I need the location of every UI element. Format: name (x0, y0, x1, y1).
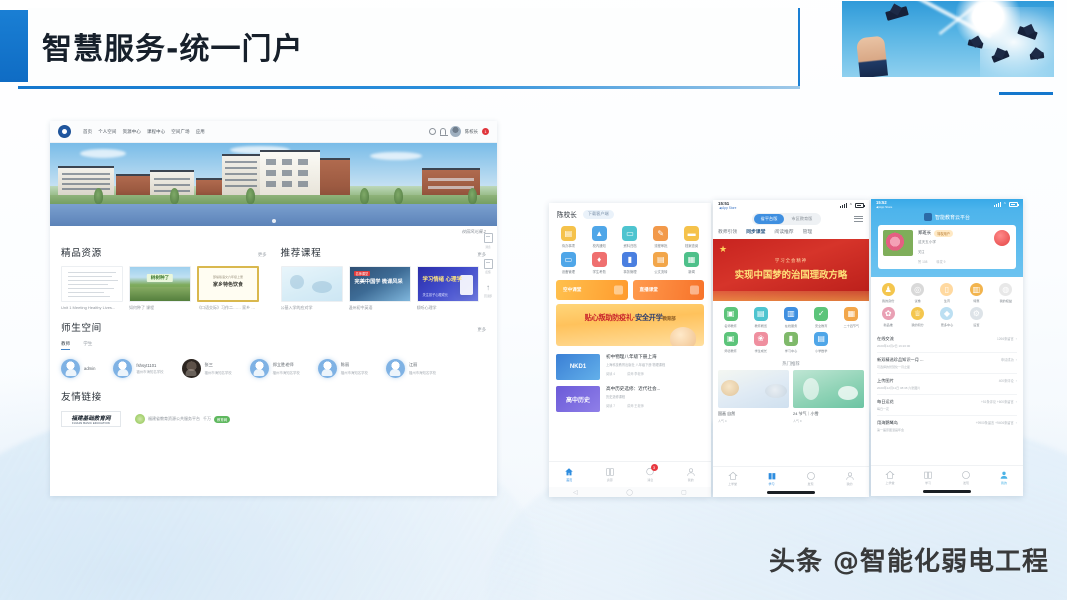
wifi-icon: ⌃ (1003, 202, 1007, 208)
banner-prefix: 贴心 (585, 313, 599, 322)
rail-label: 反馈 (485, 270, 490, 274)
nav-item-personal[interactable]: 个人空间 (98, 129, 116, 135)
epidemic-safety-banner[interactable]: 贴心叛助防疫礼·安全开学教育部 (556, 304, 704, 346)
app-label: 我的积分 (911, 322, 923, 327)
list-item[interactable]: 上传图片 2020年12月11日 08:38 六张图片 400条评论 › (877, 374, 1017, 395)
card-title: 国画 自然 (718, 411, 789, 417)
user-icon (686, 467, 696, 477)
notification-badge[interactable]: 1 (482, 128, 489, 135)
person-name: 郑立胜老师 (273, 362, 300, 368)
list-item-title: 用海鹦鸶岛 (877, 420, 972, 426)
nav-tab-profile[interactable]: 我的 (671, 462, 712, 487)
app-tile[interactable]: ▦新闻 (677, 252, 706, 274)
portal-nav-links: 首页 个人空间 资源中心 课程中心 空间广场 应用 (83, 129, 205, 135)
person-org: 福州市海知名学校 (136, 369, 163, 374)
chevron-right-icon: › (1016, 357, 1017, 362)
person-item[interactable]: 陈丽 福州市海知名学校 (318, 359, 368, 378)
ios-status-bar: 15:51 ◀ App Store ⌃ (713, 200, 869, 211)
friend-link-text: 福建省教育资源公共服务平台 (148, 416, 200, 422)
more-link[interactable]: 更多 (477, 327, 486, 333)
app-label: 设置 (973, 322, 979, 327)
star-icon: ★ (719, 244, 727, 255)
live-class-icon (690, 286, 699, 295)
course-card[interactable]: 名师课堂 完美中国学 微课风采 温州初中英语 (349, 266, 411, 311)
list-item-subtitle: 每日一花 (877, 407, 977, 411)
app-label: 新闻 (688, 269, 695, 274)
phone-screenshot-2: 15:51 ◀ App Store ⌃ 省平台版 市区教育版 教师引领 同步课堂… (713, 200, 869, 497)
person-item[interactable]: 江丽 福州市海知名学校 (386, 359, 436, 378)
rail-item-message[interactable]: 消息 (481, 233, 495, 249)
battery-icon (1009, 202, 1018, 207)
slide-header: 智慧服务-统一门户 (0, 0, 1067, 100)
battery-icon (855, 203, 864, 208)
list-item[interactable]: 新双精选珍品知识一月 ... 可选择的智慧化一月之星 申请成功 › (877, 353, 1017, 374)
app-tile[interactable]: ✓安全教育 (807, 307, 836, 328)
nav-label: 消息 (647, 478, 653, 482)
china-dream-banner[interactable]: ★ 学习全会精神 实现中国梦的治国理政方略 (713, 239, 869, 301)
tab-students[interactable]: 学生 (83, 341, 92, 350)
nav-tab-study[interactable]: 学习 (752, 467, 791, 490)
app-label: 二十四节气 (844, 323, 859, 328)
child-illustration (670, 327, 696, 346)
app-tile[interactable]: ▦二十四节气 (837, 307, 866, 328)
calendar-icon: ▦ (844, 307, 858, 321)
resource-card[interactable]: Unit 1 Meeting Healthy Lives... (61, 266, 123, 311)
portal-side-rail: 消息 反馈 ↑ 回顶部 (481, 233, 495, 308)
graduation-cap-icon (885, 6, 909, 21)
app-tile[interactable]: ▮事务管理 (616, 252, 645, 274)
card-title: 24 节气｜小雪 (793, 411, 864, 417)
friend-link-badge: 教育网 (214, 416, 230, 423)
nav-tab-resource[interactable]: 资源 (590, 462, 631, 487)
app-label: 新品推 (884, 322, 893, 327)
message-badge: 3 (651, 464, 658, 471)
list-item[interactable]: NKD1 初中物理八年级下册上海 上海科技教育出版社 八年级下册 物理课程 阅读… (556, 351, 704, 383)
tab-reading[interactable]: 阅读推荐 (774, 228, 793, 235)
news-icon: ▦ (684, 252, 699, 267)
nav-tab-discover[interactable]: 发现 (791, 467, 830, 490)
fujian-education-logo[interactable]: 福建基础教育网 FUJIAN BASIC EDUCATION (61, 411, 121, 427)
nav-tab-home[interactable]: 首页 (549, 462, 590, 487)
avatar (318, 359, 337, 378)
section-title: 友情链接 (61, 389, 102, 403)
app-label: 小学数学 (815, 348, 827, 353)
phone1-course-list: NKD1 初中物理八年级下册上海 上海科技教育出版社 八年级下册 物理课程 阅读… (549, 346, 711, 415)
growth-icon: ❀ (754, 332, 768, 346)
app-tile[interactable]: ▮学习中心 (776, 332, 805, 353)
list-item-subtitle: 上海科技教育出版社 八年级下册 物理课程 (606, 362, 704, 367)
list-item-subtitle: 2020年12月11日 08:38 六张图片 (877, 386, 995, 390)
header-rule (999, 92, 1053, 95)
list-item[interactable]: 用海鹦鸶岛 第一届原图漫画年会 +9900条留言 +9406条留言 › (877, 416, 1017, 436)
nav-item-home[interactable]: 首页 (83, 129, 92, 135)
app-tile[interactable]: ♟我的身份 (874, 283, 902, 303)
app-tile[interactable]: ✎流程审批 (646, 226, 675, 248)
card-illustration (718, 370, 789, 408)
portal-navbar: 首页 个人空间 资源中心 课程中心 空间广场 应用 陈校长 1 (50, 121, 497, 143)
app-tile[interactable]: ▭资料归档 (616, 226, 645, 248)
rights-icon: ◍ (999, 283, 1012, 296)
nav-label: 首页 (566, 478, 572, 482)
list-item-value: +9900条留言 +9406条留言 (976, 420, 1014, 425)
app-tile[interactable]: ▯生育 (933, 283, 961, 303)
thumbnail-tag: 名师课堂 (354, 271, 371, 276)
book-icon (767, 471, 777, 481)
app-tile[interactable]: ▣名师教育 (716, 307, 745, 328)
thumbnail-text: 完美中国学 微课风采 (355, 279, 403, 286)
monitor-icon: ▭ (561, 252, 576, 267)
graduation-caps-photo (842, 1, 1054, 77)
avatar (250, 359, 269, 378)
list-item-title: 高中历史选修：近代社会... (606, 386, 704, 392)
briefcase-icon: ▤ (561, 226, 576, 241)
nav-label: 资源 (607, 478, 613, 482)
nav-tab-discover[interactable]: 发现 (947, 466, 985, 489)
list-item-value: 400条评论 (999, 378, 1014, 383)
app-label: 设备管理 (562, 269, 575, 274)
app-tile[interactable]: ◆更多中心 (933, 307, 961, 327)
thumbnail-subtext: 部编版语文六年级上册 (213, 275, 243, 279)
nav-label: 发现 (807, 482, 813, 486)
home-circle-icon[interactable]: ◯ (626, 489, 633, 496)
app-label: 待办事项 (562, 243, 575, 248)
app-tile[interactable]: ❀学生成长 (746, 332, 775, 353)
list-item-title: 新双精选珍品知识一月 ... (877, 357, 997, 363)
app-tile[interactable]: ⚙设置 (962, 307, 990, 327)
hero-caption: 校园风光展 2 (50, 226, 497, 237)
banner-suffix: 教育部 (663, 316, 676, 321)
chevron-right-icon: › (1016, 378, 1017, 383)
resource-thumbnail (61, 266, 123, 302)
resource-card[interactable]: 部编版语文六年级上册 家乡特色饮食 《口语交际》习作二…… 家乡 特色… (197, 266, 259, 311)
resource-thumbnail: 部编版语文六年级上册 家乡特色饮食 (197, 266, 259, 302)
nav-tab-study[interactable]: 学习 (909, 466, 947, 489)
back-icon[interactable]: ◁ (573, 489, 578, 496)
post-stat: 赞 108 (918, 259, 927, 264)
course-card[interactable]: 公基入学的应对学 (281, 266, 343, 311)
home-icon (728, 471, 738, 481)
book-icon (923, 470, 933, 480)
app-label: 名师教育 (724, 323, 736, 328)
card-subtitle: 人气 4 (718, 419, 789, 423)
phone1-app-grid: ▤待办事项 ▲校内通知 ▭资料归档 ✎流程审批 ▬档案查阅 ▭设备管理 ♦学生考… (549, 221, 711, 278)
new-icon: ✿ (882, 307, 895, 320)
search-icon[interactable] (429, 128, 436, 135)
discount-icon: ▥ (970, 283, 983, 296)
user-icon (999, 470, 1009, 480)
gear-icon: ⚙ (970, 307, 983, 320)
recommend-card[interactable]: 国画 自然 人气 4 (718, 370, 789, 423)
leaf-icon (135, 414, 145, 424)
ios-home-indicator (923, 490, 971, 493)
list-item[interactable]: 在线交流 2020年12月2日 19:20:00 1266条留言 › (877, 332, 1017, 353)
app-tile[interactable]: ▤待办事项 (554, 226, 583, 248)
list-item-subtitle: 历史选修课程 (606, 394, 704, 399)
archive-icon: ▭ (622, 226, 637, 241)
app-label: 更多中心 (941, 322, 953, 327)
chevron-right-icon: › (1016, 420, 1017, 425)
chart-icon: ▥ (784, 307, 798, 321)
id-icon: ♟ (882, 283, 895, 296)
header-accent-block (0, 10, 28, 82)
back-to-appstore-link[interactable]: ◀ App Store (876, 205, 892, 209)
approval-icon: ✎ (653, 226, 668, 241)
list-item-title: 在线交流 (877, 336, 993, 342)
points-icon: ♕ (911, 307, 924, 320)
tab-teachers[interactable]: 教师 (61, 341, 70, 350)
app-logo-icon (924, 213, 932, 221)
phone2-recommend-cards: 国画 自然 人气 4 24 节气｜小雪 人气 9 (713, 370, 869, 423)
nav-tab-profile[interactable]: 我的 (985, 466, 1023, 489)
app-label: 试卷 (915, 298, 921, 303)
nav-label: 上学堂 (885, 481, 894, 485)
download-client-chip[interactable]: 下载客户端 (583, 210, 614, 219)
app-label: 公文流转 (654, 269, 667, 274)
person-item[interactable]: 郑立胜老师 福州市海知名学校 (250, 359, 300, 378)
person-org: 福州市海知名学校 (205, 370, 232, 375)
phone-screenshot-1: 陈校长 下载客户端 ▤待办事项 ▲校内通知 ▭资料归档 ✎流程审批 ▬档案查阅 … (549, 203, 711, 497)
person-item[interactable]: 张三 福州市海知名学校 (182, 359, 232, 378)
app-label: 生育 (944, 298, 950, 303)
more-icon: ◆ (940, 307, 953, 320)
list-item-stat: 阅读 7 (606, 403, 615, 408)
stats-icon: ▤ (754, 307, 768, 321)
list-item-stat: 讲师 李老师 (627, 371, 644, 376)
resource-thumbnail: 树树种了 (129, 266, 191, 302)
app-label: 教育概览 (755, 323, 767, 328)
section-title: 推荐课程 (281, 245, 322, 259)
list-item-value: 1266条留言 (997, 336, 1014, 341)
course-card-label: 温州初中英语 (349, 305, 411, 311)
app-label: 安全教育 (815, 323, 827, 328)
app-label: 在线服务 (785, 323, 797, 328)
wifi-icon: ⌃ (849, 203, 853, 209)
app-tile[interactable]: ♦学生考勤 (585, 252, 614, 274)
raised-hand (856, 36, 888, 77)
cloud-classroom-button[interactable]: 空中课堂 (556, 280, 628, 300)
nav-item-resource[interactable]: 资源中心 (123, 129, 141, 135)
app-tile[interactable]: ▬档案查阅 (677, 226, 706, 248)
person-name: 江丽 (409, 362, 436, 368)
nav-item-apps[interactable]: 应用 (196, 129, 205, 135)
platform-segmented-control[interactable]: 省平台版 市区教育版 (752, 213, 821, 225)
nav-item-plaza[interactable]: 空间广场 (171, 129, 189, 135)
app-tile[interactable]: ▤小学数学 (807, 332, 836, 353)
envelope-button[interactable] (994, 230, 1010, 246)
nav-tab-profile[interactable]: 我的 (830, 467, 869, 490)
phone2-tab-bar: 教师引领 同步课堂 阅读推荐 管理 (713, 228, 869, 239)
post-tag[interactable]: 关注 (918, 249, 1011, 254)
book-icon: ▮ (784, 332, 798, 346)
baby-icon: ▯ (940, 283, 953, 296)
app-tile[interactable]: ▤公文流转 (646, 252, 675, 274)
phone1-user-name: 陈校长 (557, 209, 577, 219)
friend-link-item[interactable]: 福建省教育资源公共服务平台 千万 教育网 (135, 414, 230, 424)
course-thumbnail: 学习情绪 心理学 关注孩子心理成长 (417, 266, 479, 302)
tab-manage[interactable]: 管理 (803, 228, 813, 235)
app-label: 资料归档 (623, 243, 636, 248)
person-item[interactable]: admin (61, 359, 95, 378)
thumbnail-text: 学习情绪 心理学 (423, 277, 462, 284)
nav-label: 我的 (1001, 481, 1007, 485)
nav-tab-message[interactable]: 3 消息 (630, 462, 671, 487)
message-icon (484, 233, 493, 243)
list-item-stat: 阅读 4 (606, 371, 615, 376)
chevron-right-icon: › (1016, 399, 1017, 404)
course-thumbnail: 高中历史 (556, 386, 600, 412)
phone1-action-buttons: 空中课堂 直播课堂 (549, 278, 711, 304)
resource-card-label: Unit 1 Meeting Healthy Lives... (61, 305, 123, 310)
phone3-header: 智能教育云平台 郑班长 特权用户 这天五小学 关注 赞 108 转发 9 (871, 210, 1023, 277)
compass-icon (961, 470, 971, 480)
list-item[interactable]: 高中历史 高中历史选修：近代社会... 历史选修课程 阅读 7 讲师 王老师 (556, 383, 704, 415)
app-label: 学生考勤 (593, 269, 606, 274)
person-name: admin (84, 366, 95, 371)
button-label: 空中课堂 (563, 287, 581, 293)
flower-photo (883, 230, 913, 256)
list-item[interactable]: 每日运花 每日一花 +51条评论 +600条留言 › (877, 395, 1017, 416)
app-tile[interactable]: ▤教育概览 (746, 307, 775, 328)
compass-icon (806, 471, 816, 481)
campus-hero-banner (50, 143, 497, 226)
segment-province[interactable]: 省平台版 (754, 214, 785, 223)
app-tile[interactable]: ▥特惠 (962, 283, 990, 303)
nav-item-course[interactable]: 课程中心 (147, 129, 165, 135)
app-tile[interactable]: ✿新品推 (874, 307, 902, 327)
tab-teacher-lead[interactable]: 教师引领 (718, 228, 737, 235)
list-item-value: 申请成功 (1001, 357, 1014, 362)
list-item-subtitle: 第一届原图漫画年会 (877, 428, 972, 432)
post-author: 郑班长 (918, 230, 931, 236)
cloud-class-icon (614, 286, 623, 295)
phone2-bottom-nav: 上学堂 学习 发现 我的 (713, 466, 869, 490)
banner-highlight: 叛助防疫礼 (598, 313, 632, 322)
app-tile[interactable]: ◍我的权益 (992, 283, 1020, 303)
avatar (113, 359, 132, 378)
carousel-indicator[interactable] (272, 219, 276, 223)
avatar[interactable] (450, 126, 461, 137)
banner-title: 贴心叛助防疫礼·安全开学教育部 (585, 313, 676, 323)
rail-item-feedback[interactable]: 反馈 (481, 259, 495, 275)
phone3-bottom-nav: 上学堂 学习 发现 我的 (871, 465, 1023, 489)
person-org: 福州市海知名学校 (341, 370, 368, 375)
app-tile[interactable]: ◎试卷 (903, 283, 931, 303)
recommend-card[interactable]: 24 节气｜小雪 人气 9 (793, 370, 864, 423)
people-list: admin fshsyt1101 福州市海知名学校 张三 福州市海知名学校 (61, 359, 486, 378)
button-label: 直播课堂 (640, 287, 658, 293)
app-label: 学习中心 (785, 348, 797, 353)
school-logo-icon (58, 125, 71, 138)
app-label: 特惠 (973, 298, 979, 303)
bell-icon[interactable] (440, 128, 446, 135)
thumbnail-subtext: 关注孩子心理成长 (423, 292, 449, 297)
shield-icon: ✓ (814, 307, 828, 321)
paper-icon: ◎ (911, 283, 924, 296)
resource-card-label: 如何种了 课程 (129, 305, 191, 311)
avatar (61, 359, 80, 378)
section-title: 热门推荐 (713, 357, 869, 370)
card-subtitle: 人气 9 (793, 419, 864, 423)
app-label: 师德教育 (724, 348, 736, 353)
heart-icon: ▣ (724, 332, 738, 346)
app-tile[interactable]: ▣师德教育 (716, 332, 745, 353)
live-classroom-button[interactable]: 直播课堂 (633, 280, 705, 300)
nav-label: 学习 (925, 481, 931, 485)
recents-icon[interactable]: ▢ (681, 489, 687, 496)
list-item-title: 上传图片 (877, 378, 995, 384)
thumbnail-text: 家乡特色饮食 (213, 281, 243, 288)
logo-line-2: FUJIAN BASIC EDUCATION (72, 422, 110, 425)
math-icon: ▤ (814, 332, 828, 346)
person-name: fshsyt1101 (136, 363, 163, 368)
book-icon (605, 467, 615, 477)
app-label: 档案查阅 (685, 243, 698, 248)
rail-item-top[interactable]: ↑ 回顶部 (481, 284, 495, 298)
person-org: 福州市海知名学校 (273, 370, 300, 375)
bell-icon: ▲ (592, 226, 607, 241)
rail-label: 消息 (485, 245, 490, 249)
person-org: 福州市海知名学校 (409, 370, 436, 375)
tab-sync-class[interactable]: 同步课堂 (746, 228, 765, 235)
course-card-label: 倾听心理学 (417, 305, 479, 311)
section-recommended-courses: 推荐课程 更多 公基入学的应对学 名师课堂 完美中国学 微课 (281, 245, 487, 311)
teacher-icon: ▣ (724, 307, 738, 321)
back-to-appstore-link[interactable]: ◀ App Store (719, 206, 736, 210)
app-tile[interactable]: ♕我的积分 (903, 307, 931, 327)
nav-tab-school[interactable]: 上学堂 (713, 467, 752, 490)
rail-label: 回顶部 (484, 294, 492, 298)
nav-label: 学习 (768, 482, 774, 486)
phone1-bottom-nav: 首页 资源 3 消息 我的 (549, 461, 711, 487)
profile-post-card[interactable]: 郑班长 特权用户 这天五小学 关注 赞 108 转发 9 (878, 225, 1016, 269)
course-thumbnail: NKD1 (556, 354, 600, 380)
segment-city[interactable]: 市区教育版 (784, 214, 819, 223)
app-tile[interactable]: ▥在线服务 (776, 307, 805, 328)
person-item[interactable]: fshsyt1101 福州市海知名学校 (113, 359, 163, 378)
nav-tab-school[interactable]: 上学堂 (871, 466, 909, 489)
nav-label: 我的 (846, 482, 852, 486)
web-portal-screenshot: 首页 个人空间 资源中心 课程中心 空间广场 应用 陈校长 1 (50, 121, 497, 496)
course-card-label: 公基入学的应对学 (281, 305, 343, 311)
resource-course-row: 精品资源 更多 Unit 1 Mee (61, 245, 486, 311)
more-link[interactable]: 更多 (258, 252, 267, 258)
resource-card[interactable]: 树树种了 如何种了 课程 (129, 266, 191, 311)
avatar (386, 359, 405, 378)
list-item-value: +51条评论 +600条留言 (981, 399, 1014, 404)
app-tile[interactable]: ▭设备管理 (554, 252, 583, 274)
banner-title: 实现中国梦的治国理政方略 (735, 267, 848, 281)
ios-status-bar: 15:52 ◀ App Store ⌃ (871, 199, 1023, 210)
ios-home-indicator (767, 491, 815, 494)
section-friend-links: 友情链接 福建基础教育网 FUJIAN BASIC EDUCATION 福建省教… (61, 389, 486, 433)
section-title: 师生空间 (61, 320, 102, 334)
card-illustration (793, 370, 864, 408)
page-title: 智慧服务-统一门户 (42, 24, 303, 68)
portal-user-name: 陈校长 (465, 129, 478, 135)
header-underline (18, 86, 800, 89)
hamburger-menu-icon[interactable] (854, 216, 863, 222)
thumbnail-text: 树树种了 (147, 274, 173, 282)
course-card[interactable]: 学习情绪 心理学 关注孩子心理成长 倾听心理学 (417, 266, 479, 311)
nav-label: 发现 (963, 481, 969, 485)
friend-link-suffix: 千万 (203, 416, 211, 422)
phone3-app-title: 智能教育云平台 (935, 214, 970, 221)
app-tile[interactable]: ▲校内通知 (585, 226, 614, 248)
list-item-subtitle: 2020年12月2日 19:20:00 (877, 344, 993, 348)
app-label: 我的身份 (882, 298, 894, 303)
app-label: 事务管理 (623, 269, 636, 274)
section-teacher-student-space: 师生空间 更多 教师 学生 admin fshsyt1101 福州市海知名学校 (61, 320, 486, 378)
